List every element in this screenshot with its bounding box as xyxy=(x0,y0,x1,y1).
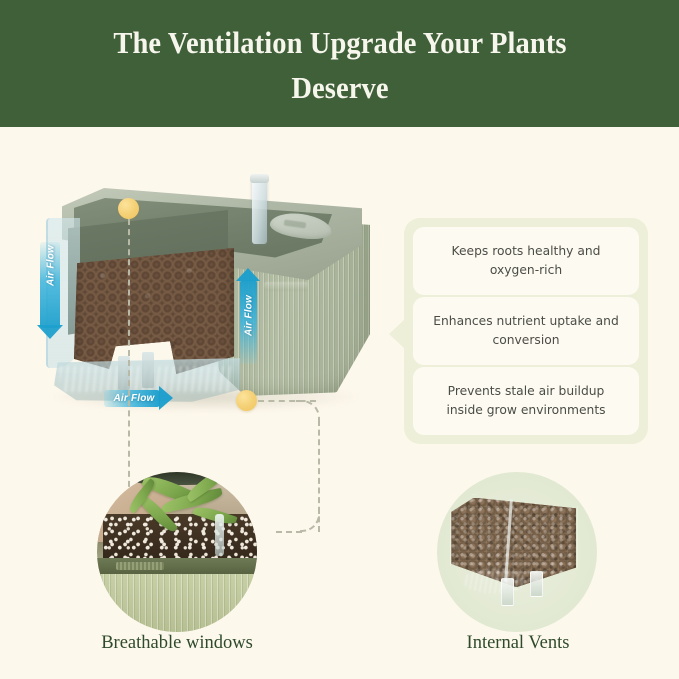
photo-planter-body xyxy=(97,574,257,632)
photo-internal-vent-leg xyxy=(530,571,543,597)
airflow-arrow-left: Air Flow xyxy=(40,242,60,328)
internal-vent-leg xyxy=(142,352,154,388)
soil-substrate xyxy=(74,248,234,374)
hotspot-dot-bottom-vent[interactable] xyxy=(236,390,257,411)
airflow-label: Air Flow xyxy=(106,393,162,404)
infographic-page: The Ventilation Upgrade Your Plants Dese… xyxy=(0,0,679,679)
arrow-down-icon xyxy=(37,325,63,339)
benefit-card-text: Keeps roots healthy and oxygen-rich xyxy=(429,242,623,280)
connector-line-left xyxy=(128,219,130,497)
photo-airflow-wisp xyxy=(463,568,527,594)
callout-pointer-icon xyxy=(389,319,405,349)
arrow-right-icon xyxy=(159,386,173,410)
benefit-card-text: Enhances nutrient uptake and conversion xyxy=(429,312,623,350)
water-fill-tube xyxy=(252,178,267,244)
photo-breathable-window xyxy=(116,562,164,570)
caption-breathable-windows: Breathable windows xyxy=(0,633,354,654)
detail-photo-internal-vents xyxy=(437,472,597,632)
arrow-up-icon xyxy=(236,268,260,281)
connector-elbow-bottom xyxy=(298,510,320,532)
connector-line-right-tail xyxy=(276,531,302,533)
header-banner: The Ventilation Upgrade Your Plants Dese… xyxy=(0,0,679,127)
benefit-card-text: Prevents stale air buildup inside grow e… xyxy=(429,382,623,420)
product-illustration xyxy=(26,170,386,432)
fill-tube-cap xyxy=(250,174,269,183)
airflow-arrow-bottom: Air Flow xyxy=(104,390,160,407)
airflow-label: Air Flow xyxy=(244,289,255,343)
caption-internal-vents: Internal Vents xyxy=(358,633,678,654)
photo-internal-vent-leg xyxy=(501,578,514,606)
benefit-card: Enhances nutrient uptake and conversion xyxy=(413,297,639,365)
hotspot-dot-top-window[interactable] xyxy=(118,198,139,219)
detail-photo-breathable-windows xyxy=(97,472,257,632)
brand-emboss xyxy=(264,282,308,291)
airflow-arrow-middle: Air Flow xyxy=(240,280,257,364)
benefit-card: Keeps roots healthy and oxygen-rich xyxy=(413,227,639,295)
benefit-card: Prevents stale air buildup inside grow e… xyxy=(413,367,639,435)
benefits-callout-panel: Keeps roots healthy and oxygen-rich Enha… xyxy=(404,218,648,444)
airflow-label: Air Flow xyxy=(46,238,57,294)
page-title: The Ventilation Upgrade Your Plants Dese… xyxy=(100,18,578,110)
photo-water-tube xyxy=(215,514,224,556)
